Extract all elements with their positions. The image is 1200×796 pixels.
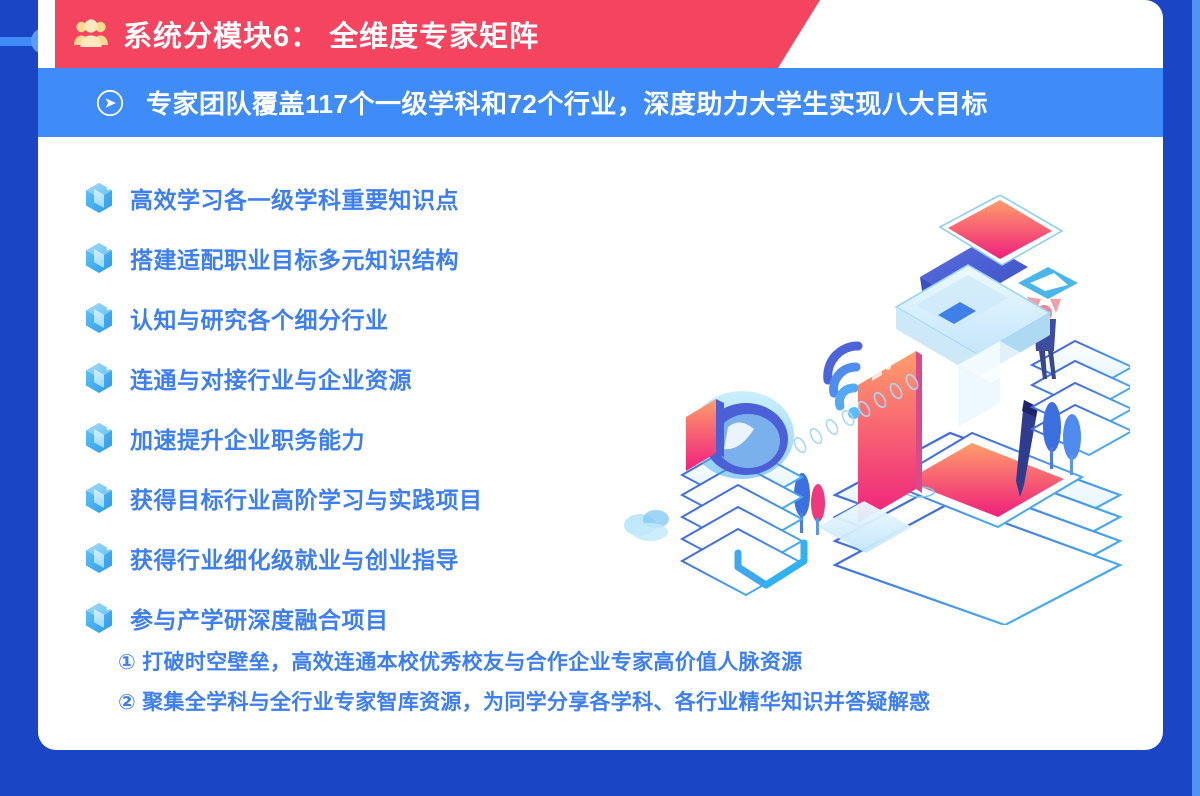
hexagon-cube-icon <box>84 242 114 274</box>
notes-list: ① 打破时空壁垒，高效连通本校优秀校友与合作企业专家高价值人脉资源 ② 聚集全学… <box>118 641 930 721</box>
note-item: ① 打破时空壁垒，高效连通本校优秀校友与合作企业专家高价值人脉资源 <box>118 641 930 681</box>
list-item-label: 认知与研究各个细分行业 <box>130 301 389 335</box>
list-item-label: 连通与对接行业与企业资源 <box>130 361 412 395</box>
hexagon-cube-icon <box>84 602 114 634</box>
play-arrow-circle-icon <box>96 89 124 117</box>
right-edge-strip <box>1192 0 1200 796</box>
subheader-text: 专家团队覆盖117个一级学科和72个行业，深度助力大学生实现八大目标 <box>146 84 988 121</box>
list-item-label: 搭建适配职业目标多元知识结构 <box>130 241 459 275</box>
hexagon-cube-icon <box>84 362 114 394</box>
subheader-banner: 专家团队覆盖117个一级学科和72个行业，深度助力大学生实现八大目标 <box>38 68 1163 137</box>
list-item-label: 加速提升企业职务能力 <box>130 421 365 455</box>
list-item-label: 高效学习各一级学科重要知识点 <box>130 181 459 215</box>
hexagon-cube-icon <box>84 542 114 574</box>
hexagon-cube-icon <box>84 302 114 334</box>
group-people-icon <box>73 18 109 50</box>
hexagon-cube-icon <box>84 482 114 514</box>
list-item-label: 获得目标行业高阶学习与实践项目 <box>130 481 483 515</box>
wifi-signal-icon <box>828 346 860 419</box>
note-text: ① 打破时空壁垒，高效连通本校优秀校友与合作企业专家高价值人脉资源 <box>118 646 803 676</box>
note-text: ② 聚集全学科与全行业专家智库资源，为同学分享各学科、各行业精华知识并答疑解惑 <box>118 686 930 716</box>
cloud-icon <box>624 510 669 541</box>
list-item-label: 参与产学研深度融合项目 <box>130 601 389 635</box>
module-title: 系统分模块6： 全维度专家矩阵 <box>123 13 539 55</box>
list-item-label: 获得行业细化级就业与创业指导 <box>130 541 459 575</box>
module-header-banner: 系统分模块6： 全维度专家矩阵 <box>55 0 820 68</box>
hexagon-cube-icon <box>84 422 114 454</box>
isometric-tech-illustration <box>620 195 1130 625</box>
hexagon-cube-icon <box>84 182 114 214</box>
note-item: ② 聚集全学科与全行业专家智库资源，为同学分享各学科、各行业精华知识并答疑解惑 <box>118 681 930 721</box>
